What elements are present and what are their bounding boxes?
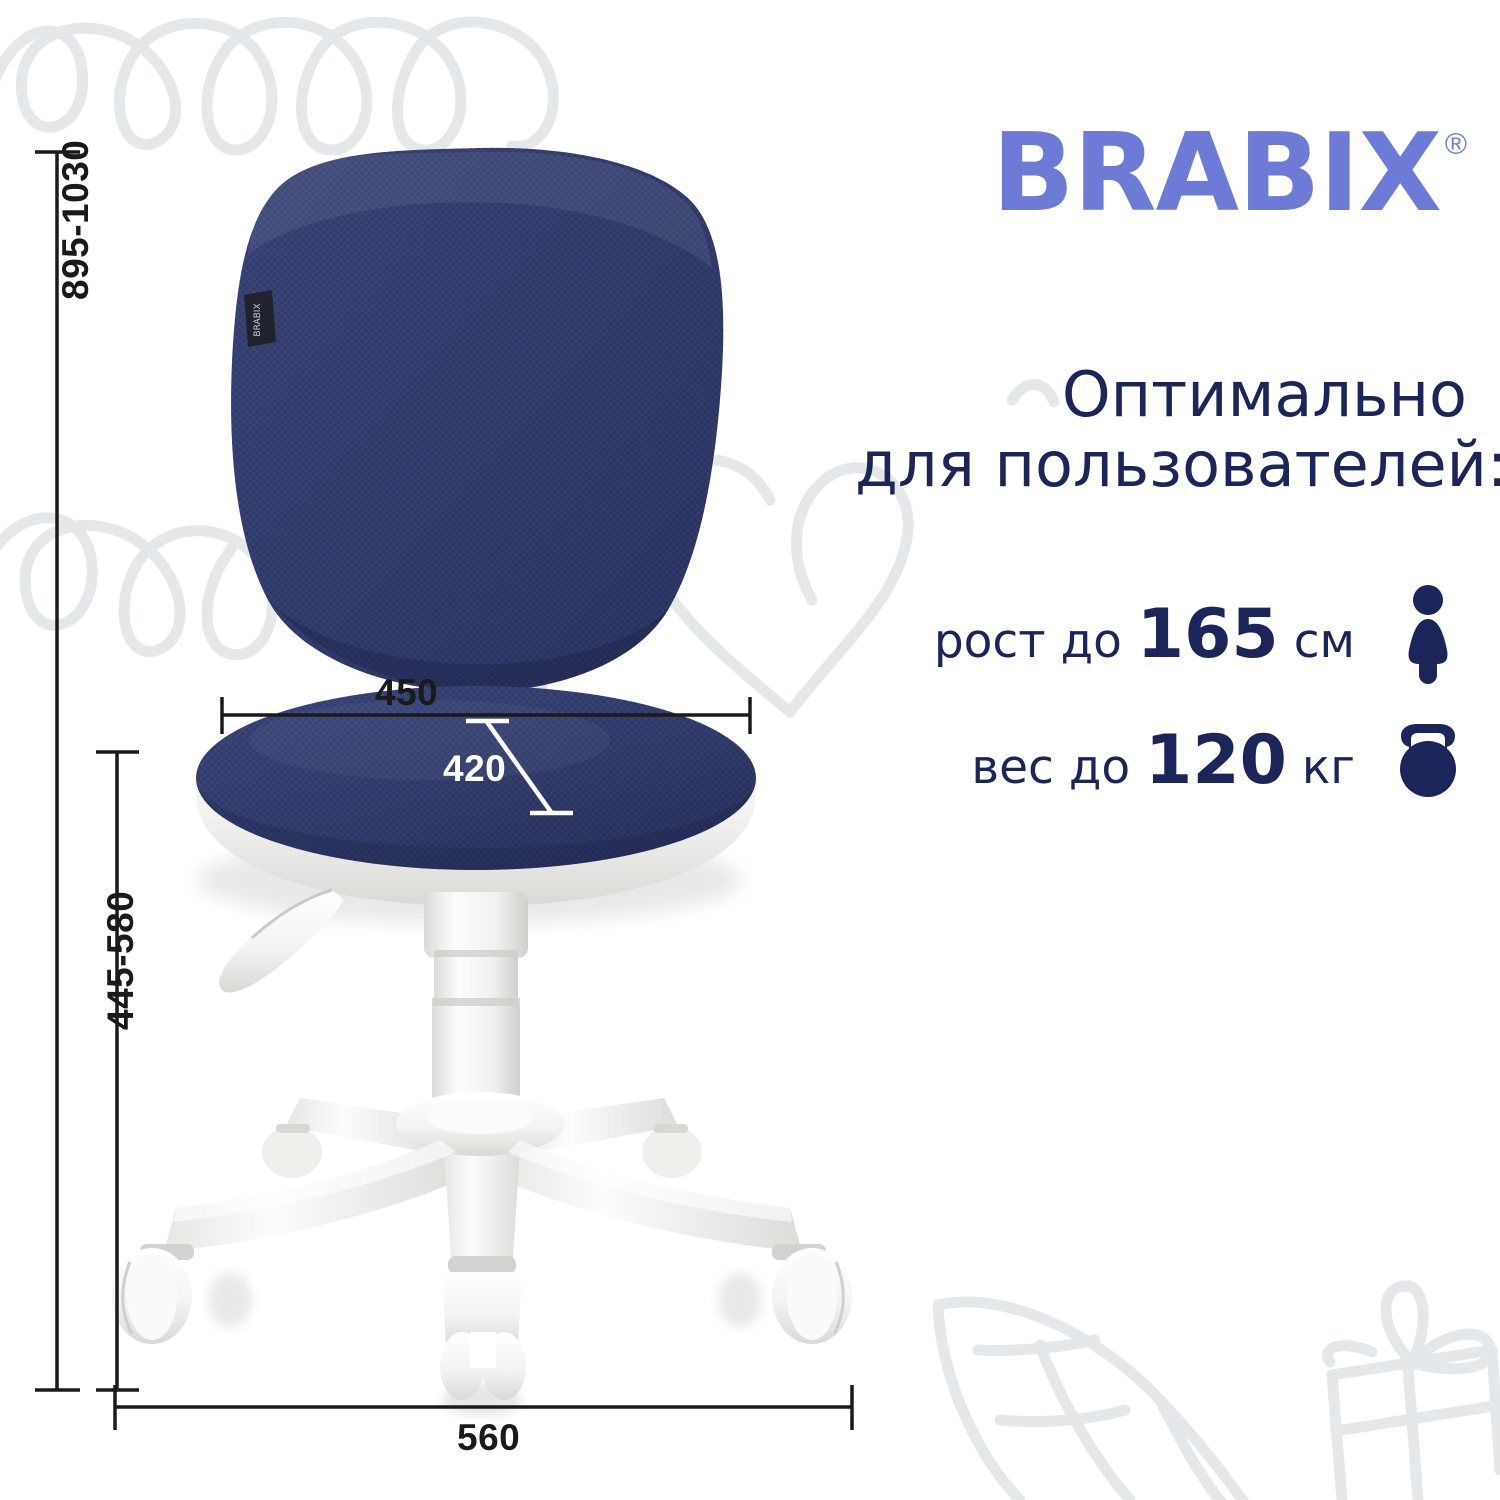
headline-line-1: Оптимально [855,360,1467,430]
spec-weight-text: вес до 120 кг [971,721,1355,800]
spec-height-unit: см [1279,614,1355,669]
dim-label-base-width: 560 [457,1417,520,1459]
info-panel: BRABIX ® Оптимально для пользователей: р… [855,120,1485,834]
brand-logo: BRABIX ® [855,120,1485,228]
dim-label-seat-height: 445-580 [100,891,142,1030]
kettlebell-icon [1389,708,1467,812]
spec-weight-value: 120 [1145,721,1287,800]
registered-trademark-icon: ® [1445,130,1467,160]
person-icon [1389,582,1467,686]
dim-label-seat-width: 450 [375,672,438,714]
dim-label-seat-depth: 420 [443,748,506,790]
page-title: Оптимально для пользователей: [855,360,1485,500]
spec-row-height: рост до 165 см [855,582,1485,686]
spec-row-weight: вес до 120 кг [855,708,1485,812]
spec-list: рост до 165 см вес до 120 кг [855,582,1485,812]
spec-weight-unit: кг [1287,740,1355,795]
dim-label-total-height: 895-1030 [55,140,97,300]
spec-height-value: 165 [1137,595,1279,674]
brand-logo-text: BRABIX [992,120,1441,228]
spec-height-prefix: рост до [934,614,1137,669]
spec-height-text: рост до 165 см [934,595,1355,674]
spec-weight-prefix: вес до [971,740,1145,795]
headline-line-2: для пользователей: [855,430,1467,500]
product-infographic: BRABIX [0,0,1500,1500]
